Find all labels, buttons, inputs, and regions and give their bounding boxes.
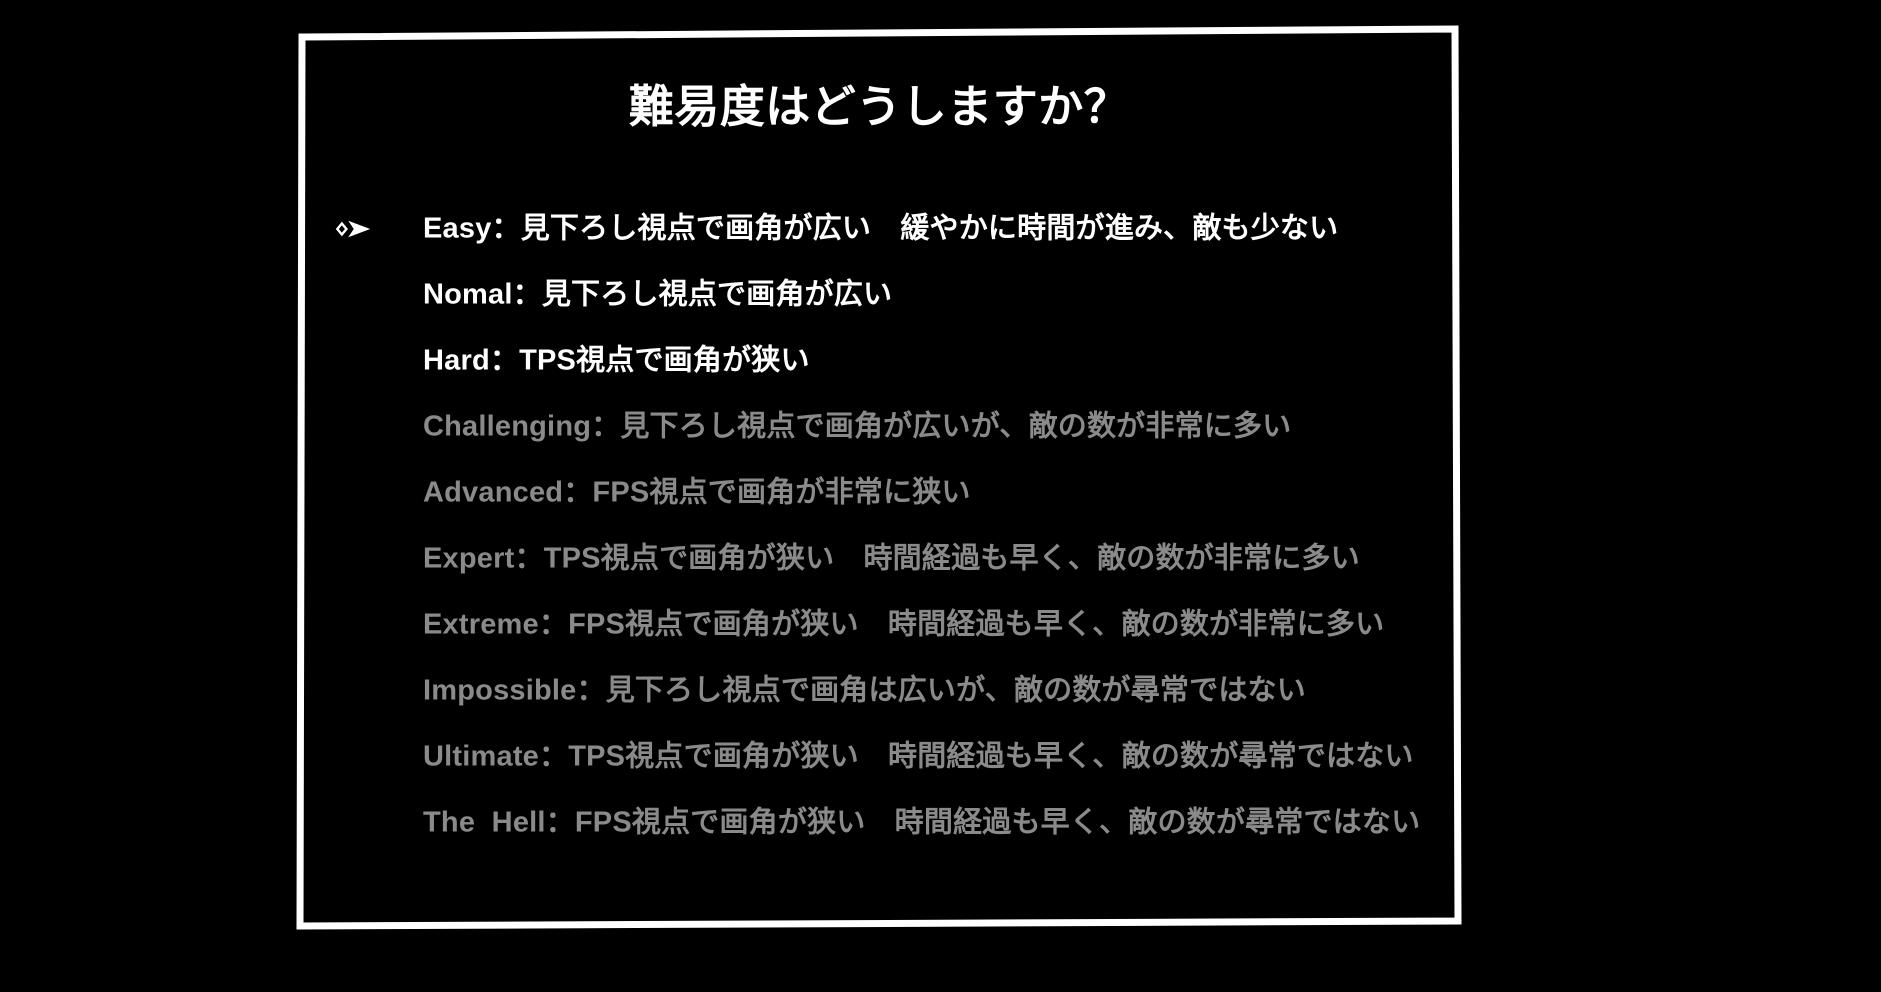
- option-separator: ：: [539, 741, 568, 773]
- selector-slot-empty: [330, 808, 386, 838]
- option-description: FPS視点で画角が狭い 時間経過も早く、敵の数が非常に多い: [568, 609, 1384, 641]
- option-text: Hard：TPS視点で画角が狭い: [423, 347, 810, 376]
- selector-slot-empty: [330, 742, 386, 772]
- option-description: TPS視点で画角が狭い 時間経過も早く、敵の数が非常に多い: [544, 543, 1360, 575]
- option-separator: ：: [577, 675, 606, 707]
- option-text: Expert：TPS視点で画角が狭い 時間経過も早く、敵の数が非常に多い: [423, 545, 1360, 574]
- selector-slot-empty: [330, 478, 386, 508]
- option-description: 見下ろし視点で画角が広いが、敵の数が非常に多い: [620, 411, 1291, 443]
- option-separator: ：: [591, 411, 620, 443]
- option-description: 見下ろし視点で画角は広いが、敵の数が尋常ではない: [606, 675, 1306, 707]
- selector-slot-empty: [330, 676, 386, 706]
- option-text: Extreme：FPS視点で画角が狭い 時間経過も早く、敵の数が非常に多い: [423, 611, 1384, 640]
- option-description: FPS視点で画角が狭い 時間経過も早く、敵の数が尋常ではない: [575, 807, 1420, 839]
- selector-slot-empty: [330, 544, 386, 574]
- option-separator: ：: [546, 807, 575, 839]
- option-description: 見下ろし視点で画角が広い 緩やかに時間が進み、敵も少ない: [521, 213, 1339, 245]
- option-description: TPS視点で画角が狭い 時間経過も早く、敵の数が尋常ではない: [568, 741, 1413, 773]
- option-separator: ：: [513, 279, 542, 311]
- selector-slot-empty: [330, 346, 386, 376]
- option-label: Advanced: [423, 477, 563, 509]
- option-row-impossible: Impossible：見下ろし視点で画角は広いが、敵の数が尋常ではない: [330, 658, 1450, 724]
- option-description: FPS視点で画角が非常に狭い: [592, 477, 970, 509]
- option-separator: ：: [492, 213, 521, 245]
- option-text: Advanced：FPS視点で画角が非常に狭い: [423, 479, 971, 508]
- option-label: Easy: [423, 213, 492, 245]
- option-text: Challenging：見下ろし視点で画角が広いが、敵の数が非常に多い: [423, 413, 1291, 442]
- option-label: Expert: [423, 543, 514, 575]
- option-description: 見下ろし視点で画角が広い: [542, 279, 892, 311]
- option-row-hard[interactable]: Hard：TPS視点で画角が狭い: [330, 328, 1450, 394]
- option-text: Ultimate：TPS視点で画角が狭い 時間経過も早く、敵の数が尋常ではない: [423, 743, 1414, 772]
- option-row-advanced: Advanced：FPS視点で画角が非常に狭い: [330, 460, 1450, 526]
- option-row-easy[interactable]: Easy：見下ろし視点で画角が広い 緩やかに時間が進み、敵も少ない: [330, 196, 1450, 262]
- selector-slot-empty: [330, 610, 386, 640]
- option-row-expert: Expert：TPS視点で画角が狭い 時間経過も早く、敵の数が非常に多い: [330, 526, 1450, 592]
- option-label: Hard: [423, 345, 490, 377]
- option-row-extreme: Extreme：FPS視点で画角が狭い 時間経過も早く、敵の数が非常に多い: [330, 592, 1450, 658]
- difficulty-dialog: 難易度はどうしますか？ Easy：見下ろし視点で画角が広い 緩やかに時間が進み、…: [300, 30, 1458, 928]
- option-row-challenging: Challenging：見下ろし視点で画角が広いが、敵の数が非常に多い: [330, 394, 1450, 460]
- option-text: The Hell：FPS視点で画角が狭い 時間経過も早く、敵の数が尋常ではない: [423, 809, 1420, 838]
- option-text: Impossible：見下ろし視点で画角は広いが、敵の数が尋常ではない: [423, 677, 1306, 706]
- option-row-the-hell: The Hell：FPS視点で画角が狭い 時間経過も早く、敵の数が尋常ではない: [330, 790, 1450, 856]
- option-label: Impossible: [423, 675, 577, 707]
- option-label: Ultimate: [423, 741, 539, 773]
- difficulty-option-list: Easy：見下ろし視点で画角が広い 緩やかに時間が進み、敵も少ない Nomal：…: [330, 196, 1450, 856]
- option-label: The Hell: [423, 807, 546, 839]
- option-description: TPS視点で画角が狭い: [519, 345, 810, 377]
- selector-slot-empty: [330, 280, 386, 310]
- page-title: 難易度はどうしますか？: [300, 82, 1458, 132]
- option-text: Nomal：見下ろし視点で画角が広い: [423, 281, 892, 310]
- option-separator: ：: [490, 345, 519, 377]
- option-row-ultimate: Ultimate：TPS視点で画角が狭い 時間経過も早く、敵の数が尋常ではない: [330, 724, 1450, 790]
- selector-slot-empty: [330, 412, 386, 442]
- game-screen: 難易度はどうしますか？ Easy：見下ろし視点で画角が広い 緩やかに時間が進み、…: [0, 0, 1881, 992]
- option-row-nomal[interactable]: Nomal：見下ろし視点で画角が広い: [330, 262, 1450, 328]
- option-separator: ：: [539, 609, 568, 641]
- option-separator: ：: [514, 543, 543, 575]
- option-label: Challenging: [423, 411, 591, 443]
- option-separator: ：: [563, 477, 592, 509]
- selector-arrow-icon: [330, 214, 386, 244]
- option-text: Easy：見下ろし視点で画角が広い 緩やかに時間が進み、敵も少ない: [423, 215, 1338, 244]
- option-label: Nomal: [423, 279, 513, 311]
- option-label: Extreme: [423, 609, 539, 641]
